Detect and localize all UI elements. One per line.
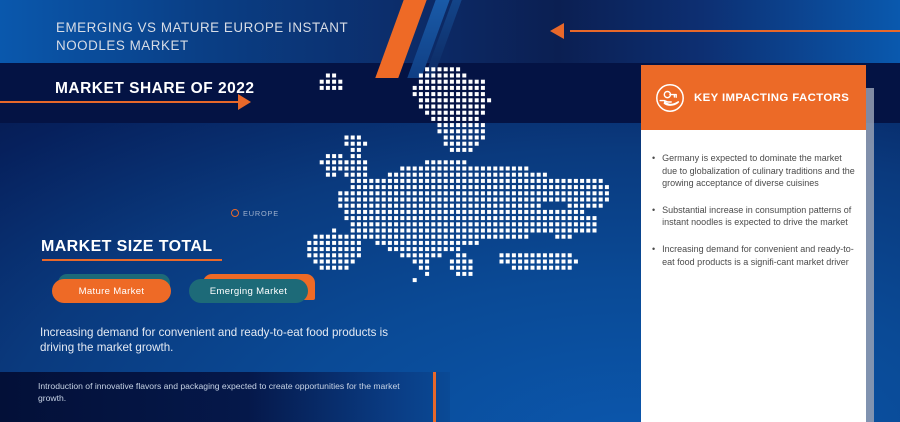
infographic-slide: EMERGING VS MATURE EUROPE INSTANT NOODLE… bbox=[0, 0, 900, 422]
badge-mature-market-label: Mature Market bbox=[79, 286, 145, 297]
bullet-glyph: • bbox=[650, 243, 655, 268]
europe-marker-icon bbox=[231, 209, 239, 217]
bullet-glyph: • bbox=[650, 152, 655, 190]
list-item-text: Substantial increase in consumption patt… bbox=[662, 204, 858, 229]
market-size-underline bbox=[42, 259, 222, 261]
top-arrow-head-icon bbox=[550, 23, 564, 39]
page-title: EMERGING VS MATURE EUROPE INSTANT NOODLE… bbox=[56, 19, 396, 55]
badge-emerging-market-pill[interactable]: Emerging Market bbox=[189, 279, 308, 303]
key-factors-title: KEY IMPACTING FACTORS bbox=[694, 92, 849, 104]
list-item-text: Increasing demand for convenient and rea… bbox=[662, 243, 858, 268]
key-factors-list: • Germany is expected to dominate the ma… bbox=[650, 152, 858, 282]
badge-mature-market-pill[interactable]: Mature Market bbox=[52, 279, 171, 303]
badge-emerging-market[interactable]: Emerging Market bbox=[181, 274, 321, 308]
hand-holding-key-icon bbox=[655, 83, 685, 113]
badge-emerging-market-label: Emerging Market bbox=[210, 286, 288, 297]
market-growth-paragraph: Increasing demand for convenient and rea… bbox=[40, 325, 395, 356]
footnote-text: Introduction of innovative flavors and p… bbox=[38, 381, 418, 404]
list-item: • Germany is expected to dominate the ma… bbox=[650, 152, 858, 190]
share-arrow-line bbox=[0, 101, 240, 103]
market-size-title: MARKET SIZE TOTAL bbox=[41, 238, 213, 256]
top-arrow-line bbox=[570, 30, 900, 32]
europe-label: EUROPE bbox=[243, 209, 279, 218]
market-share-title: MARKET SHARE OF 2022 bbox=[55, 80, 254, 98]
footnote-strip-accent bbox=[433, 372, 436, 422]
key-factors-header: KEY IMPACTING FACTORS bbox=[641, 65, 866, 130]
panel-shadow bbox=[866, 88, 874, 422]
bullet-glyph: • bbox=[650, 204, 655, 229]
list-item: • Increasing demand for convenient and r… bbox=[650, 243, 858, 268]
list-item-text: Germany is expected to dominate the mark… bbox=[662, 152, 858, 190]
badge-mature-market[interactable]: Mature Market bbox=[52, 274, 182, 308]
list-item: • Substantial increase in consumption pa… bbox=[650, 204, 858, 229]
europe-dot-map bbox=[300, 60, 620, 312]
